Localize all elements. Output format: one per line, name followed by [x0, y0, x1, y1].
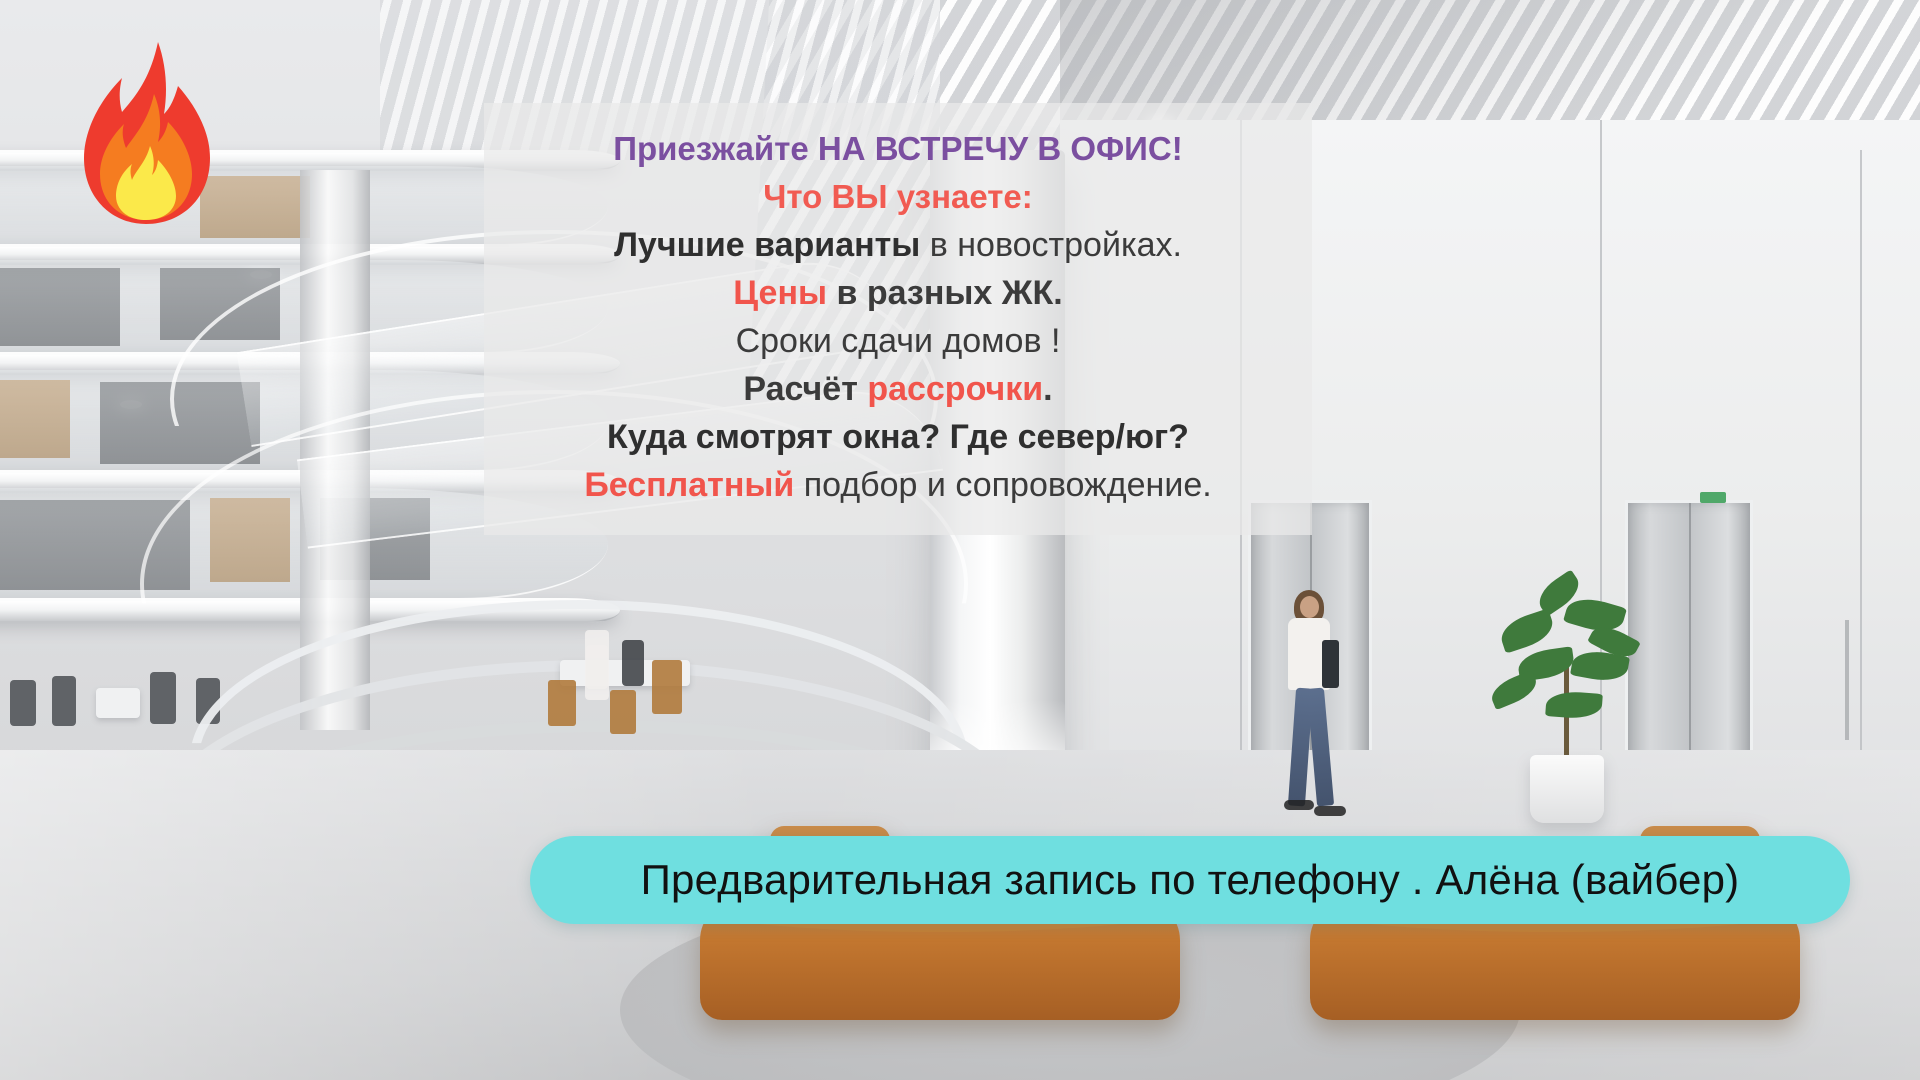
benefit-4-rest: . [1043, 370, 1052, 408]
offer-headline: Приезжайте НА ВСТРЕЧУ В ОФИС! [502, 125, 1294, 173]
meeting-chair [652, 660, 682, 714]
offer-benefit-4: Расчёт рассрочки. [502, 365, 1294, 413]
standing-person [585, 630, 609, 700]
seated-person [10, 680, 36, 726]
offer-subhead: Что ВЫ узнаете: [502, 173, 1294, 221]
plant-pot [1530, 755, 1604, 823]
meeting-chair [548, 680, 576, 726]
fire-icon [70, 38, 220, 228]
offer-benefit-5: Куда смотрят окна? Где север/юг? [502, 413, 1294, 461]
elevator-door [1625, 500, 1753, 768]
offer-text-panel: Приезжайте НА ВСТРЕЧУ В ОФИС! Что ВЫ узн… [484, 103, 1312, 535]
benefit-1-rest: в новостройках. [920, 226, 1182, 264]
benefit-4-bold: Расчёт [743, 370, 867, 408]
exit-sign [1700, 492, 1726, 503]
benefit-2-accent: Цены [733, 274, 827, 312]
person-bag [1322, 640, 1339, 688]
lobby-table [96, 688, 140, 718]
offer-benefit-6: Бесплатный подбор и сопровождение. [502, 461, 1294, 509]
person-shoe [1314, 806, 1346, 816]
benefit-6-accent: Бесплатный [584, 466, 794, 504]
benefit-6-rest: подбор и сопровождение. [794, 466, 1211, 504]
offer-benefit-3: Сроки сдачи домов ! [502, 317, 1294, 365]
wall-joint [1600, 120, 1602, 820]
wall-joint [1860, 150, 1862, 800]
appointment-cta-banner[interactable]: Предварительная запись по телефону . Алё… [530, 836, 1850, 924]
seated-person [150, 672, 176, 724]
benefit-1-bold: Лучшие варианты [614, 226, 920, 264]
door-handle-line [1845, 620, 1849, 740]
advertisement-canvas: Приезжайте НА ВСТРЕЧУ В ОФИС! Что ВЫ узн… [0, 0, 1920, 1080]
offer-benefit-2: Цены в разных ЖК. [502, 269, 1294, 317]
meeting-person [622, 640, 644, 686]
offer-benefit-1: Лучшие варианты в новостройках. [502, 221, 1294, 269]
benefit-4-accent: рассрочки [867, 370, 1043, 408]
benefit-2-rest: в разных ЖК. [827, 274, 1063, 312]
appointment-cta-text: Предварительная запись по телефону . Алё… [641, 856, 1740, 904]
meeting-chair [610, 690, 636, 734]
person-head [1300, 596, 1319, 618]
person-shoe [1284, 800, 1314, 810]
seated-person [52, 676, 76, 726]
